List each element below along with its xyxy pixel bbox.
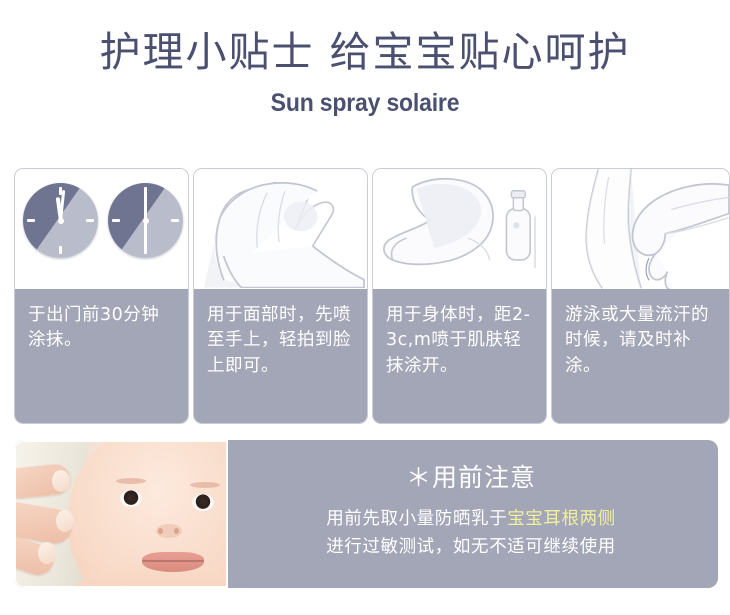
arm-with-spray-bottle-icon [373, 169, 546, 288]
page-header: 护理小贴士 给宝宝贴心呵护 Sun spray solaire [0, 0, 730, 118]
two-hands-palms-icon [194, 169, 367, 288]
spray-bottle-icon [506, 191, 535, 268]
two-clocks-icon [23, 183, 183, 258]
precaution-title: ＊用前注意 [234, 464, 708, 492]
step-card-4: 游泳或大量流汗的时候，请及时补涂。 [551, 168, 730, 424]
step-2-caption: 用于面部时，先喷至手上，轻拍到脸上即可。 [194, 289, 367, 423]
hand-applying-to-arm-icon [552, 169, 729, 289]
step-card-2: 用于面部时，先喷至手上，轻拍到脸上即可。 [193, 168, 368, 424]
adult-hand-in-photo [14, 466, 82, 570]
step-card-1: 于出门前30分钟涂抹。 [14, 168, 189, 424]
baby-photo [14, 440, 228, 588]
precaution-line-2: 进行过敏测试，如无不适可继续使用 [234, 533, 708, 561]
precaution-panel: ＊用前注意 用前先取小量防晒乳于宝宝耳根两侧 进行过敏测试，如无不适可继续使用 [14, 440, 718, 588]
step-2-illustration [194, 169, 367, 289]
step-card-3: 用于身体时，距2-3c,m喷于肌肤轻抹涂开。 [372, 168, 547, 424]
clock-icon-first [23, 183, 98, 258]
step-1-illustration [15, 169, 188, 289]
step-1-caption: 于出门前30分钟涂抹。 [15, 289, 188, 423]
precaution-line-1: 用前先取小量防晒乳于宝宝耳根两侧 [234, 505, 708, 533]
precaution-highlight: 宝宝耳根两侧 [507, 509, 616, 529]
steps-row: 于出门前30分钟涂抹。 用于面部时，先喷至手上，轻拍到脸上即可。 [14, 168, 730, 424]
step-4-illustration [552, 169, 729, 289]
step-3-illustration [373, 169, 546, 289]
page-title: 护理小贴士 给宝宝贴心呵护 [0, 28, 730, 77]
page-subtitle: Sun spray solaire [29, 89, 701, 118]
precaution-line-1-before: 用前先取小量防晒乳于 [326, 509, 507, 529]
clock-icon-second [108, 183, 183, 258]
precaution-text: ＊用前注意 用前先取小量防晒乳于宝宝耳根两侧 进行过敏测试，如无不适可继续使用 [228, 440, 718, 588]
step-4-caption: 游泳或大量流汗的时候，请及时补涂。 [552, 289, 729, 423]
step-3-caption: 用于身体时，距2-3c,m喷于肌肤轻抹涂开。 [373, 289, 546, 423]
